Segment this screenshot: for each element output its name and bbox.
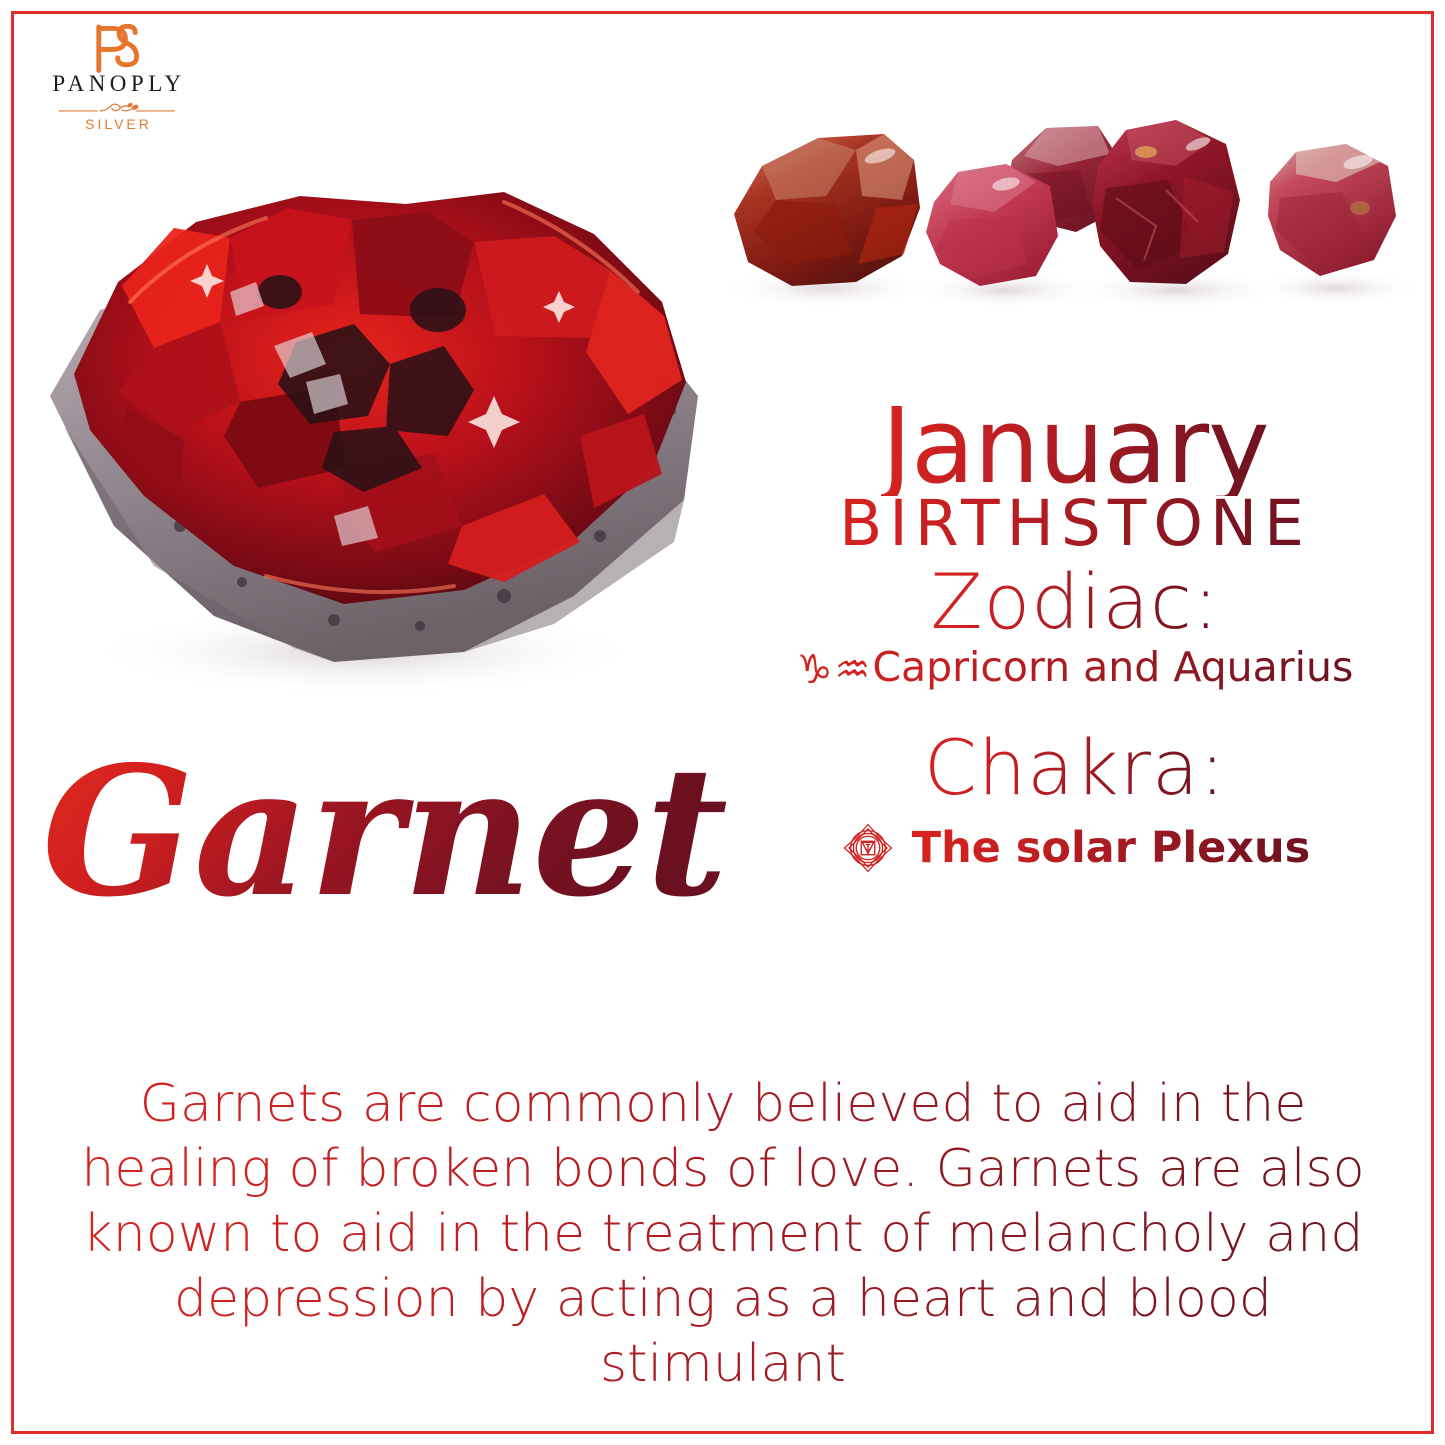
- aquarius-icon: ♒: [834, 647, 872, 693]
- birthstone-details: January BIRTHSTONE Zodiac: ♑♒Capricorn a…: [745, 398, 1405, 876]
- zodiac-signs-text: Capricorn and Aquarius: [872, 643, 1353, 691]
- garnet-script-text: Garnet: [40, 716, 730, 966]
- zodiac-label: Zodiac:: [931, 562, 1220, 643]
- solar-plexus-chakra-icon: [840, 820, 896, 876]
- stone-name-wordmark: Garnet: [40, 716, 730, 966]
- brand-name: PANOPLY: [22, 72, 212, 95]
- floral-flourish-icon: [55, 100, 179, 116]
- garnet-cluster-photo: [34, 96, 724, 706]
- chakra-name: The solar Plexus: [912, 823, 1311, 873]
- description-paragraph: Garnets are commonly believed to aid in …: [58, 1072, 1388, 1397]
- garnet-text-glyphs: Garnet: [42, 727, 728, 936]
- capricorn-icon: ♑: [797, 647, 835, 693]
- birthstone-infographic: PANOPLY SILVER: [0, 0, 1445, 1445]
- chakra-label: Chakra:: [924, 728, 1226, 809]
- chakra-row: The solar Plexus: [745, 820, 1405, 876]
- month-title: January: [881, 398, 1268, 496]
- brand-subtitle: SILVER: [22, 117, 212, 131]
- rough-garnet-stones-photo: [706, 104, 1418, 314]
- birthstone-subtitle: BIRTHSTONE: [839, 492, 1311, 556]
- zodiac-signs-row: ♑♒Capricorn and Aquarius: [797, 645, 1354, 692]
- brand-logo[interactable]: PANOPLY SILVER: [22, 20, 212, 131]
- ps-monogram-icon: [75, 20, 159, 76]
